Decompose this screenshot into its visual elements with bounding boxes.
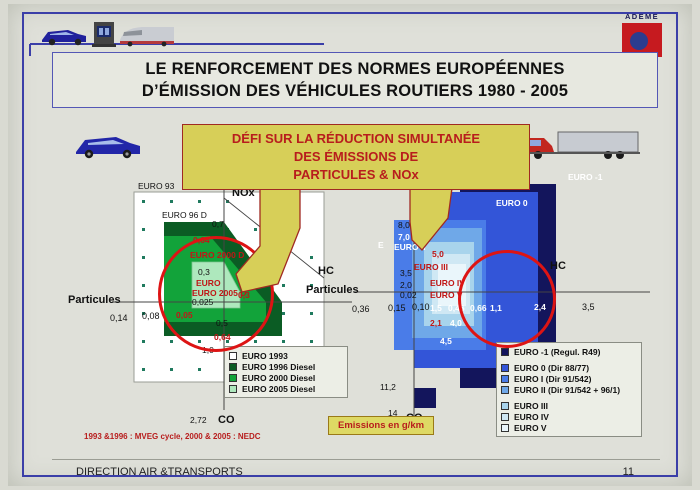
- right-tick-15: 1,5: [430, 303, 442, 313]
- left-tick-005: 0,05: [176, 310, 193, 320]
- legend-right-item: EURO II (Dir 91/542 + 96/1): [501, 384, 636, 395]
- legend-left-item: EURO 1993: [229, 350, 342, 361]
- legend-right-label: EURO I (Dir 91/542): [514, 374, 591, 384]
- left-tick-014: 0,14: [110, 313, 128, 323]
- left-tick-10: 1,0: [202, 345, 214, 355]
- right-label-euro-1: EURO -1: [568, 172, 602, 182]
- legend-right-item: EURO III: [501, 400, 636, 411]
- right-axis-hc: HC: [550, 260, 566, 272]
- left-axis-hc: HC: [318, 265, 334, 277]
- footer-page-number: 11: [623, 466, 634, 478]
- right-label-euroV: EURO V: [430, 290, 463, 300]
- legend-right-item: EURO IV: [501, 411, 636, 422]
- legend-left-label: EURO 2005 Diesel: [242, 384, 315, 394]
- legend-right-label: EURO III: [514, 401, 548, 411]
- right-tick-112: 11,2: [380, 382, 396, 392]
- legend-swatch: [501, 386, 509, 394]
- legend-left-label: EURO 2000 Diesel: [242, 373, 315, 383]
- legend-right-label: EURO IV: [514, 412, 549, 422]
- page-title-line2: D’ÉMISSION DES VÉHICULES ROUTIERS 1980 -…: [142, 80, 568, 102]
- legend-right-item: EURO 0 (Dir 88/77): [501, 362, 636, 373]
- callout-line1: DÉFI SUR LA RÉDUCTION SIMULTANÉE: [232, 130, 480, 148]
- cycle-note: 1993 &1996 : MVEG cycle, 2000 & 2005 : N…: [84, 432, 261, 441]
- legend-right-item: EURO I (Dir 91/542): [501, 373, 636, 384]
- legend-right-label: EURO II (Dir 91/542 + 96/1): [514, 385, 620, 395]
- slide-sheet: ADEME LE RENFORCEMENT DES NORMES EUROPÉE…: [8, 4, 692, 486]
- legend-swatch: [501, 424, 509, 432]
- right-tick-45: 4,5: [440, 336, 452, 346]
- callout-line2: DES ÉMISSIONS DE: [294, 148, 418, 166]
- car-illustration-icon: [72, 128, 144, 162]
- right-tick-21: 2,1: [430, 318, 442, 328]
- left-tick-0025: 0,025: [192, 297, 213, 307]
- left-tick-064b: 0,64: [214, 332, 231, 342]
- callout-banner: DÉFI SUR LA RÉDUCTION SIMULTANÉE DES ÉMI…: [182, 124, 530, 190]
- legend-right-label: EURO 0 (Dir 88/77): [514, 363, 589, 373]
- left-axis-co: CO: [218, 414, 235, 426]
- left-axis-particules: Particules: [68, 294, 121, 306]
- right-axis-particules: Particules: [306, 284, 359, 296]
- legend-swatch: [501, 413, 509, 421]
- legend-swatch: [229, 352, 237, 360]
- right-tick-002: 0,02: [400, 290, 417, 300]
- left-label-euro93: EURO 93: [138, 181, 174, 191]
- legend-left: EURO 1993 EURO 1996 Diesel EURO 2000 Die…: [224, 346, 348, 398]
- footer-divider: [52, 459, 660, 460]
- legend-left-label: EURO 1996 Diesel: [242, 362, 315, 372]
- callout-tail-right: [408, 188, 538, 288]
- right-tick-010: 0,10: [412, 302, 430, 312]
- right-label-euroI: E: [378, 240, 384, 250]
- page-title-line1: LE RENFORCEMENT DES NORMES EUROPÉENNES: [145, 58, 564, 80]
- callout-line3: PARTICULES & NOx: [293, 166, 418, 184]
- left-tick-008: 0,08: [142, 311, 160, 321]
- legend-swatch: [229, 374, 237, 382]
- legend-swatch: [501, 375, 509, 383]
- legend-right-item: EURO -1 (Regul. R49): [501, 346, 636, 357]
- legend-right: EURO -1 (Regul. R49) EURO 0 (Dir 88/77) …: [496, 342, 642, 437]
- legend-left-item: EURO 1996 Diesel: [229, 361, 342, 372]
- page-title: LE RENFORCEMENT DES NORMES EUROPÉENNES D…: [52, 52, 658, 108]
- legend-left-item: EURO 2005 Diesel: [229, 383, 342, 394]
- legend-swatch: [501, 348, 509, 356]
- legend-swatch: [501, 402, 509, 410]
- right-tick-40: 4,0: [450, 318, 462, 328]
- left-tick-272: 2,72: [190, 415, 207, 425]
- right-tick-015: 0,15: [388, 303, 406, 313]
- right-tick-24: 2,4: [534, 302, 546, 312]
- legend-left-label: EURO 1993: [242, 351, 288, 361]
- legend-right-label: EURO -1 (Regul. R49): [514, 347, 600, 357]
- legend-swatch: [229, 385, 237, 393]
- ademe-logo-text: ADEME: [610, 12, 674, 22]
- right-tick-046: 0,46: [448, 303, 465, 313]
- right-tick-036: 0,36: [352, 304, 370, 314]
- right-tick-11: 1,1: [490, 303, 502, 313]
- vehicles-strip-icon: [24, 14, 324, 56]
- slide-screenshot: ADEME LE RENFORCEMENT DES NORMES EUROPÉE…: [0, 0, 700, 490]
- right-tick-066: 0,66: [470, 303, 487, 313]
- truck-illustration-icon: [524, 126, 642, 164]
- car-icon: [42, 30, 86, 45]
- truck-icon: [92, 22, 116, 47]
- legend-swatch: [501, 364, 509, 372]
- emissions-unit-tag: Emissions en g/km: [328, 416, 434, 435]
- left-tick-05: 0,5: [216, 318, 228, 328]
- legend-left-item: EURO 2000 Diesel: [229, 372, 342, 383]
- footer-department: DIRECTION AIR &TRANSPORTS: [76, 466, 243, 478]
- callout-tail-left: [182, 188, 302, 298]
- legend-right-item: EURO V: [501, 422, 636, 433]
- legend-swatch: [229, 363, 237, 371]
- train-icon: [120, 27, 174, 46]
- legend-right-label: EURO V: [514, 423, 547, 433]
- right-tick-35b: 3,5: [582, 302, 595, 312]
